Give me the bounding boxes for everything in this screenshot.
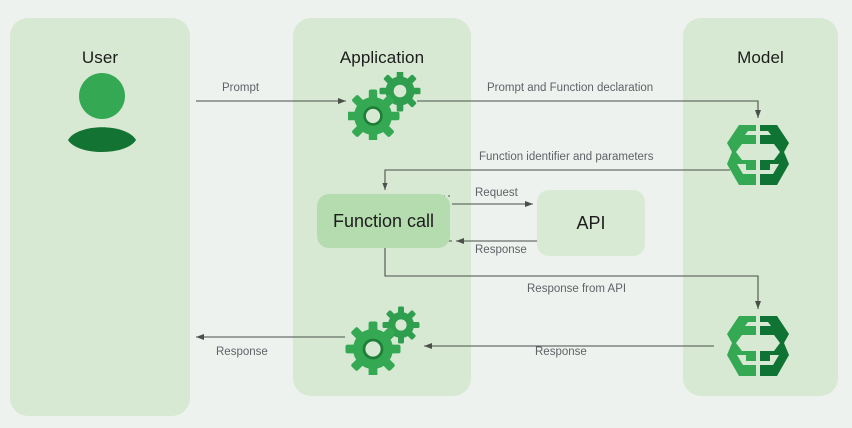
column-title-user: User xyxy=(10,48,190,68)
function-call-label: Function call xyxy=(333,211,434,232)
edge-label-request: Request xyxy=(475,187,518,199)
function-call-node[interactable]: Function call xyxy=(317,194,450,248)
edge-label-response-app-to-user: Response xyxy=(216,346,268,358)
column-title-model: Model xyxy=(683,48,838,68)
user-avatar-icon xyxy=(66,72,138,154)
edge-label-response-api: Response xyxy=(475,244,527,256)
brain-icon-top xyxy=(722,122,794,188)
edge-label-response-from-api: Response from API xyxy=(527,283,626,295)
edge-label-function-identifier-and-parameters: Function identifier and parameters xyxy=(479,151,654,163)
edge-label-prompt-and-function-declaration: Prompt and Function declaration xyxy=(487,82,653,94)
edge-label-prompt: Prompt xyxy=(222,82,259,94)
diagram-canvas: User Application Model xyxy=(0,0,852,428)
gears-icon-bottom xyxy=(345,305,425,375)
column-title-application: Application xyxy=(293,48,471,68)
api-node[interactable]: API xyxy=(537,190,645,256)
edge-label-response-model-to-app: Response xyxy=(535,346,587,358)
brain-icon-bottom xyxy=(722,313,794,379)
gears-icon-top xyxy=(348,72,424,140)
api-label: API xyxy=(576,213,605,234)
